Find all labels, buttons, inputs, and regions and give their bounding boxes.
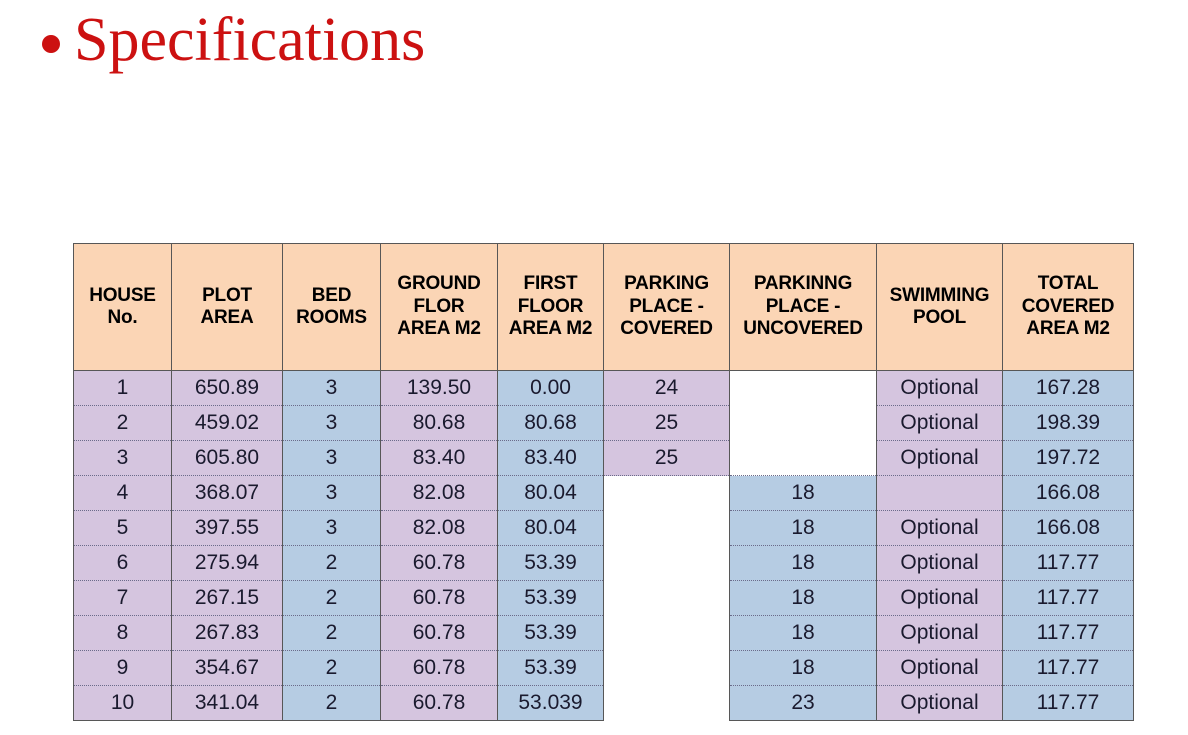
table-row: 9354.67260.7853.3918Optional117.77 bbox=[74, 651, 1134, 686]
cell-first_floor: 53.39 bbox=[498, 616, 604, 651]
column-header-line: BED bbox=[286, 285, 377, 307]
cell-parking_uncov: 18 bbox=[730, 476, 877, 511]
cell-total_covered: 117.77 bbox=[1003, 651, 1134, 686]
cell-plot_area: 354.67 bbox=[172, 651, 283, 686]
cell-swimming_pool: Optional bbox=[877, 686, 1003, 721]
column-header-parking_uncov: PARKINNGPLACE -UNCOVERED bbox=[730, 244, 877, 371]
cell-house_no: 2 bbox=[74, 406, 172, 441]
house-specifications-table: HOUSENo.PLOTAREABEDROOMSGROUNDFLORAREA M… bbox=[73, 243, 1134, 721]
cell-bed_rooms: 3 bbox=[283, 476, 381, 511]
table-row: 4368.07382.0880.0418166.08 bbox=[74, 476, 1134, 511]
column-header-first_floor: FIRSTFLOORAREA M2 bbox=[498, 244, 604, 371]
page-title: Specifications bbox=[74, 8, 425, 73]
column-header-line: FIRST bbox=[501, 273, 600, 295]
cell-total_covered: 167.28 bbox=[1003, 371, 1134, 406]
cell-ground_floor: 83.40 bbox=[381, 441, 498, 476]
cell-parking_covered bbox=[604, 476, 730, 511]
cell-first_floor: 80.68 bbox=[498, 406, 604, 441]
cell-first_floor: 0.00 bbox=[498, 371, 604, 406]
cell-parking_uncov: 18 bbox=[730, 546, 877, 581]
cell-total_covered: 198.39 bbox=[1003, 406, 1134, 441]
cell-bed_rooms: 2 bbox=[283, 686, 381, 721]
cell-plot_area: 650.89 bbox=[172, 371, 283, 406]
cell-parking_covered: 25 bbox=[604, 441, 730, 476]
column-header-line: PLACE - bbox=[607, 296, 726, 318]
column-header-swimming_pool: SWIMMINGPOOL bbox=[877, 244, 1003, 371]
cell-house_no: 7 bbox=[74, 581, 172, 616]
cell-plot_area: 341.04 bbox=[172, 686, 283, 721]
cell-parking_covered: 25 bbox=[604, 406, 730, 441]
column-header-line: COVERED bbox=[607, 318, 726, 340]
cell-swimming_pool: Optional bbox=[877, 651, 1003, 686]
column-header-line: COVERED bbox=[1006, 296, 1130, 318]
table-row: 7267.15260.7853.3918Optional117.77 bbox=[74, 581, 1134, 616]
table-body: 1650.893139.500.0024Optional167.282459.0… bbox=[74, 371, 1134, 721]
column-header-line: HOUSE bbox=[77, 285, 168, 307]
specifications-table-container: HOUSENo.PLOTAREABEDROOMSGROUNDFLORAREA M… bbox=[73, 243, 1133, 721]
cell-parking_uncov: 18 bbox=[730, 581, 877, 616]
cell-bed_rooms: 3 bbox=[283, 371, 381, 406]
column-header-house_no: HOUSENo. bbox=[74, 244, 172, 371]
cell-bed_rooms: 3 bbox=[283, 511, 381, 546]
table-header: HOUSENo.PLOTAREABEDROOMSGROUNDFLORAREA M… bbox=[74, 244, 1134, 371]
cell-swimming_pool: Optional bbox=[877, 581, 1003, 616]
cell-first_floor: 53.39 bbox=[498, 581, 604, 616]
table-row: 8267.83260.7853.3918Optional117.77 bbox=[74, 616, 1134, 651]
table-row: 2459.02380.6880.6825Optional198.39 bbox=[74, 406, 1134, 441]
cell-plot_area: 368.07 bbox=[172, 476, 283, 511]
cell-ground_floor: 60.78 bbox=[381, 616, 498, 651]
column-header-line: GROUND bbox=[384, 273, 494, 295]
cell-plot_area: 605.80 bbox=[172, 441, 283, 476]
cell-first_floor: 80.04 bbox=[498, 476, 604, 511]
cell-plot_area: 267.83 bbox=[172, 616, 283, 651]
cell-plot_area: 267.15 bbox=[172, 581, 283, 616]
column-header-line: AREA M2 bbox=[1006, 318, 1130, 340]
column-header-line: ROOMS bbox=[286, 307, 377, 329]
cell-bed_rooms: 2 bbox=[283, 651, 381, 686]
slide-title-row: Specifications bbox=[42, 8, 425, 73]
cell-first_floor: 53.39 bbox=[498, 651, 604, 686]
cell-ground_floor: 80.68 bbox=[381, 406, 498, 441]
cell-parking_covered bbox=[604, 581, 730, 616]
column-header-line: TOTAL bbox=[1006, 273, 1130, 295]
table-row: 6275.94260.7853.3918Optional117.77 bbox=[74, 546, 1134, 581]
cell-plot_area: 397.55 bbox=[172, 511, 283, 546]
cell-bed_rooms: 2 bbox=[283, 581, 381, 616]
column-header-line: POOL bbox=[880, 307, 999, 329]
table-row: 3605.80383.4083.4025Optional197.72 bbox=[74, 441, 1134, 476]
cell-parking_uncov: 18 bbox=[730, 511, 877, 546]
cell-ground_floor: 139.50 bbox=[381, 371, 498, 406]
cell-ground_floor: 82.08 bbox=[381, 511, 498, 546]
cell-parking_uncov bbox=[730, 406, 877, 441]
cell-bed_rooms: 3 bbox=[283, 441, 381, 476]
column-header-line: FLOOR bbox=[501, 296, 600, 318]
column-header-line: AREA M2 bbox=[501, 318, 600, 340]
column-header-line: SWIMMING bbox=[880, 285, 999, 307]
cell-swimming_pool: Optional bbox=[877, 406, 1003, 441]
cell-ground_floor: 60.78 bbox=[381, 581, 498, 616]
column-header-line: FLOR bbox=[384, 296, 494, 318]
cell-swimming_pool: Optional bbox=[877, 511, 1003, 546]
column-header-total_covered: TOTALCOVEREDAREA M2 bbox=[1003, 244, 1134, 371]
cell-total_covered: 166.08 bbox=[1003, 511, 1134, 546]
cell-house_no: 10 bbox=[74, 686, 172, 721]
column-header-line: AREA M2 bbox=[384, 318, 494, 340]
column-header-line: UNCOVERED bbox=[733, 318, 873, 340]
table-row: 5397.55382.0880.0418Optional166.08 bbox=[74, 511, 1134, 546]
cell-parking_uncov: 18 bbox=[730, 651, 877, 686]
cell-first_floor: 80.04 bbox=[498, 511, 604, 546]
column-header-line: No. bbox=[77, 307, 168, 329]
cell-house_no: 4 bbox=[74, 476, 172, 511]
column-header-line: PARKING bbox=[607, 273, 726, 295]
cell-house_no: 6 bbox=[74, 546, 172, 581]
cell-swimming_pool: Optional bbox=[877, 616, 1003, 651]
cell-bed_rooms: 3 bbox=[283, 406, 381, 441]
cell-ground_floor: 60.78 bbox=[381, 546, 498, 581]
cell-total_covered: 117.77 bbox=[1003, 616, 1134, 651]
cell-total_covered: 197.72 bbox=[1003, 441, 1134, 476]
column-header-line: AREA bbox=[175, 307, 279, 329]
cell-parking_covered bbox=[604, 616, 730, 651]
bullet-dot-icon bbox=[42, 35, 60, 53]
cell-house_no: 8 bbox=[74, 616, 172, 651]
cell-swimming_pool: Optional bbox=[877, 371, 1003, 406]
cell-house_no: 3 bbox=[74, 441, 172, 476]
cell-total_covered: 117.77 bbox=[1003, 686, 1134, 721]
cell-swimming_pool: Optional bbox=[877, 546, 1003, 581]
cell-swimming_pool: Optional bbox=[877, 441, 1003, 476]
column-header-plot_area: PLOTAREA bbox=[172, 244, 283, 371]
cell-plot_area: 459.02 bbox=[172, 406, 283, 441]
cell-total_covered: 117.77 bbox=[1003, 546, 1134, 581]
cell-parking_covered bbox=[604, 511, 730, 546]
cell-first_floor: 53.039 bbox=[498, 686, 604, 721]
column-header-bed_rooms: BEDROOMS bbox=[283, 244, 381, 371]
table-row: 1650.893139.500.0024Optional167.28 bbox=[74, 371, 1134, 406]
cell-parking_covered: 24 bbox=[604, 371, 730, 406]
column-header-line: PLOT bbox=[175, 285, 279, 307]
cell-parking_covered bbox=[604, 686, 730, 721]
cell-house_no: 1 bbox=[74, 371, 172, 406]
cell-ground_floor: 82.08 bbox=[381, 476, 498, 511]
cell-parking_uncov: 23 bbox=[730, 686, 877, 721]
cell-parking_uncov bbox=[730, 371, 877, 406]
column-header-line: PLACE - bbox=[733, 296, 873, 318]
table-row: 10341.04260.7853.03923Optional117.77 bbox=[74, 686, 1134, 721]
cell-ground_floor: 60.78 bbox=[381, 686, 498, 721]
column-header-parking_covered: PARKINGPLACE -COVERED bbox=[604, 244, 730, 371]
cell-house_no: 5 bbox=[74, 511, 172, 546]
column-header-line: PARKINNG bbox=[733, 273, 873, 295]
cell-total_covered: 166.08 bbox=[1003, 476, 1134, 511]
column-header-ground_floor: GROUNDFLORAREA M2 bbox=[381, 244, 498, 371]
cell-parking_uncov: 18 bbox=[730, 616, 877, 651]
cell-parking_covered bbox=[604, 546, 730, 581]
cell-bed_rooms: 2 bbox=[283, 546, 381, 581]
cell-parking_covered bbox=[604, 651, 730, 686]
cell-first_floor: 53.39 bbox=[498, 546, 604, 581]
cell-plot_area: 275.94 bbox=[172, 546, 283, 581]
cell-first_floor: 83.40 bbox=[498, 441, 604, 476]
cell-house_no: 9 bbox=[74, 651, 172, 686]
cell-parking_uncov bbox=[730, 441, 877, 476]
cell-ground_floor: 60.78 bbox=[381, 651, 498, 686]
table-header-row: HOUSENo.PLOTAREABEDROOMSGROUNDFLORAREA M… bbox=[74, 244, 1134, 371]
cell-swimming_pool bbox=[877, 476, 1003, 511]
cell-bed_rooms: 2 bbox=[283, 616, 381, 651]
cell-total_covered: 117.77 bbox=[1003, 581, 1134, 616]
